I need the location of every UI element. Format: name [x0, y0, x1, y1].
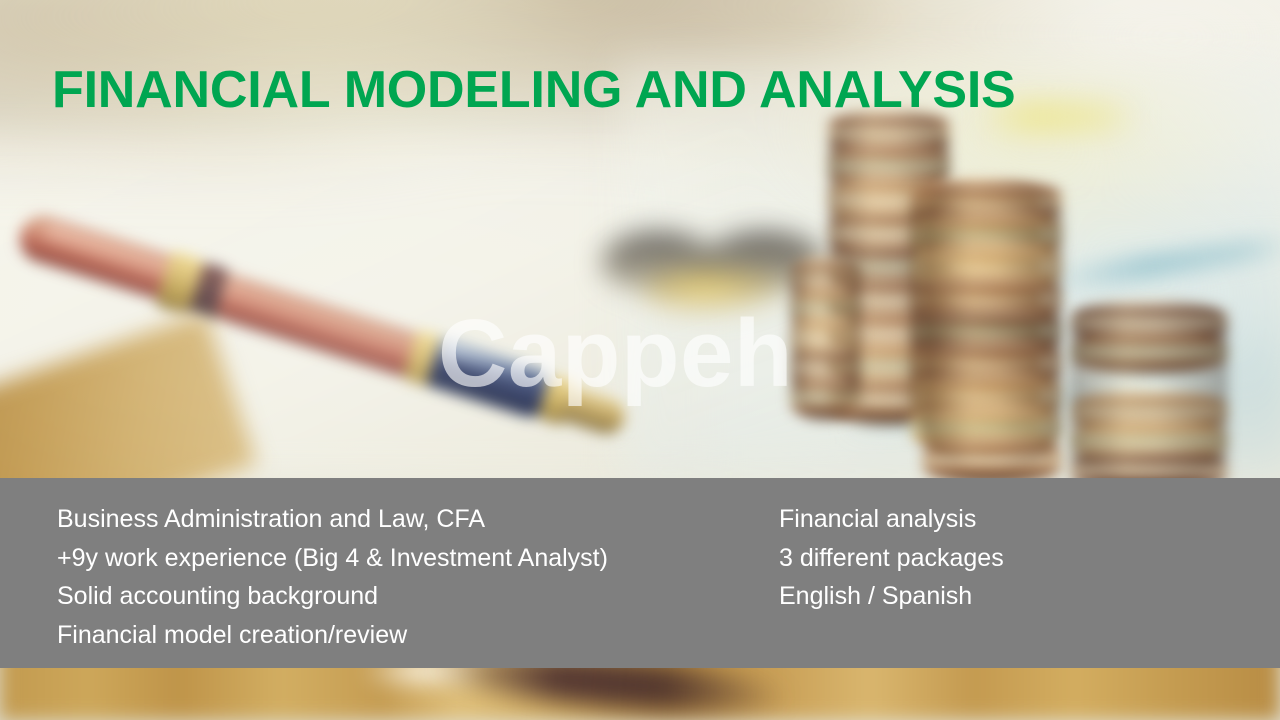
info-right-line: English / Spanish	[779, 577, 1004, 616]
info-left-line: Business Administration and Law, CFA	[57, 500, 608, 539]
info-right-column: Financial analysis 3 different packages …	[779, 500, 1004, 616]
slide-canvas: Cappeh FINANCIAL MODELING AND ANALYSIS B…	[0, 0, 1280, 720]
info-left-line: +9y work experience (Big 4 & Investment …	[57, 539, 608, 578]
coin-stack-front	[1070, 300, 1228, 478]
info-right-line: Financial analysis	[779, 500, 1004, 539]
coin-stack-shading	[1070, 300, 1228, 478]
info-left-line: Financial model creation/review	[57, 616, 608, 655]
info-right-line: 3 different packages	[779, 539, 1004, 578]
page-title: FINANCIAL MODELING AND ANALYSIS	[52, 62, 1016, 119]
info-left-line: Solid accounting background	[57, 577, 608, 616]
info-bar: Business Administration and Law, CFA +9y…	[0, 478, 1280, 668]
coin-stack-shading	[922, 178, 1062, 468]
coin-stack-middle	[922, 178, 1062, 468]
info-left-column: Business Administration and Law, CFA +9y…	[57, 500, 608, 654]
watermark-text: Cappeh	[438, 300, 868, 408]
